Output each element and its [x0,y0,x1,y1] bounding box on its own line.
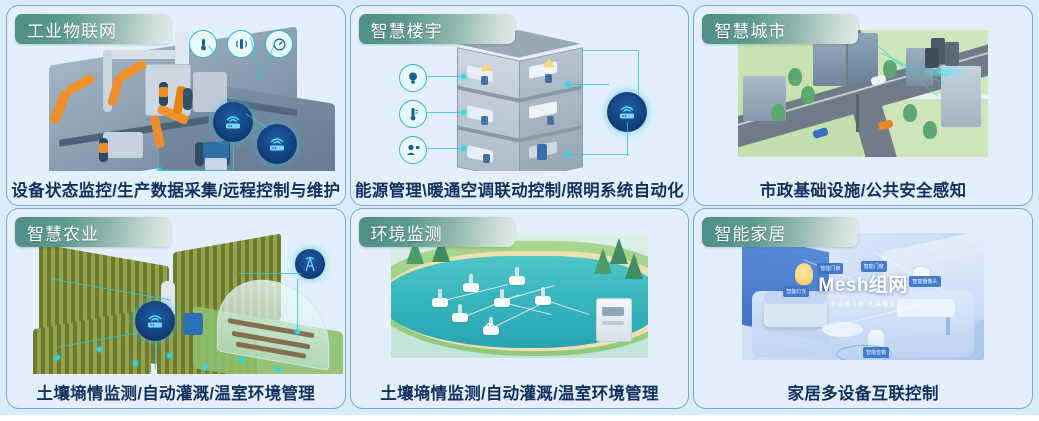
illustration-smart-building [351,24,689,171]
monitoring-buoy [509,276,525,285]
card-badge-environment-monitoring: 环境监测 [359,217,515,247]
device-tag: 智能灯光 [783,286,809,297]
scenario-card-smart-agriculture[interactable]: 智慧农业 [6,208,346,409]
card-caption-smart-agriculture: 土壤墒情监测/自动灌溉/温室环境管理 [7,380,345,404]
card-caption-smart-city: 市政基础设施/公共安全感知 [694,177,1032,201]
card-badge-smart-home: 智能家居 [702,217,858,247]
scenario-card-smart-building[interactable]: 智慧楼宇 [350,5,690,206]
scenario-card-environment-monitoring[interactable]: 环境监测 [350,208,690,409]
lightbulb-icon [795,263,813,285]
page-bottom-strip [0,415,1039,421]
card-caption-environment-monitoring: 土壤墒情监测/自动灌溉/温室环境管理 [351,380,689,404]
mesh-title-text: Mesh组网 [818,270,908,297]
device-tag: 智能音箱 [863,347,889,358]
scenario-card-smart-home[interactable]: 智能家居 [693,208,1033,409]
signal-icon [483,316,497,326]
mesh-subtitle-text: 多设备互联·无缝覆盖 [818,299,908,308]
monitoring-buoy [463,283,479,292]
monitoring-station [596,298,632,342]
mesh-overlay-title: Mesh组网 多设备互联·无缝覆盖 [818,270,908,308]
illustration-smart-agriculture [7,227,345,374]
thermostat-icon [399,100,427,128]
scenario-cards-grid: 工业物联网 [0,0,1039,415]
router-icon [213,102,253,142]
card-caption-industrial-iot: 设备状态监控/生产数据采集/远程控制与维护 [7,177,345,201]
card-badge-smart-building: 智慧楼宇 [359,14,515,44]
router-icon [257,124,297,164]
illustration-smart-city [694,24,1032,171]
card-caption-smart-building: 能源管理\暖通空调联动控制/照明系统自动化 [351,177,689,201]
illustration-environment-monitoring [351,227,689,374]
card-badge-industrial-iot: 工业物联网 [15,14,171,44]
scenario-card-industrial-iot[interactable]: 工业物联网 [6,5,346,206]
device-tag: 智能摄像头 [909,276,940,287]
lightbulb-icon [399,64,427,92]
card-caption-smart-home: 家居多设备互联控制 [694,380,1032,404]
card-badge-smart-city: 智慧城市 [702,14,858,44]
router-icon [135,301,175,341]
illustration-industrial-factory [7,24,345,171]
scenario-grid-page: 工业物联网 [0,0,1039,421]
occupancy-sensor-icon [399,136,427,164]
scenario-card-smart-city[interactable]: 智慧城市 [693,5,1033,206]
card-badge-smart-agriculture: 智慧农业 [15,217,171,247]
antenna-tower-icon [295,249,325,279]
illustration-smart-home: 智能灯光 智能门锁 智能门窗 智能摄像头 智能音箱 Mesh组网 多设备互联·无… [694,227,1032,374]
